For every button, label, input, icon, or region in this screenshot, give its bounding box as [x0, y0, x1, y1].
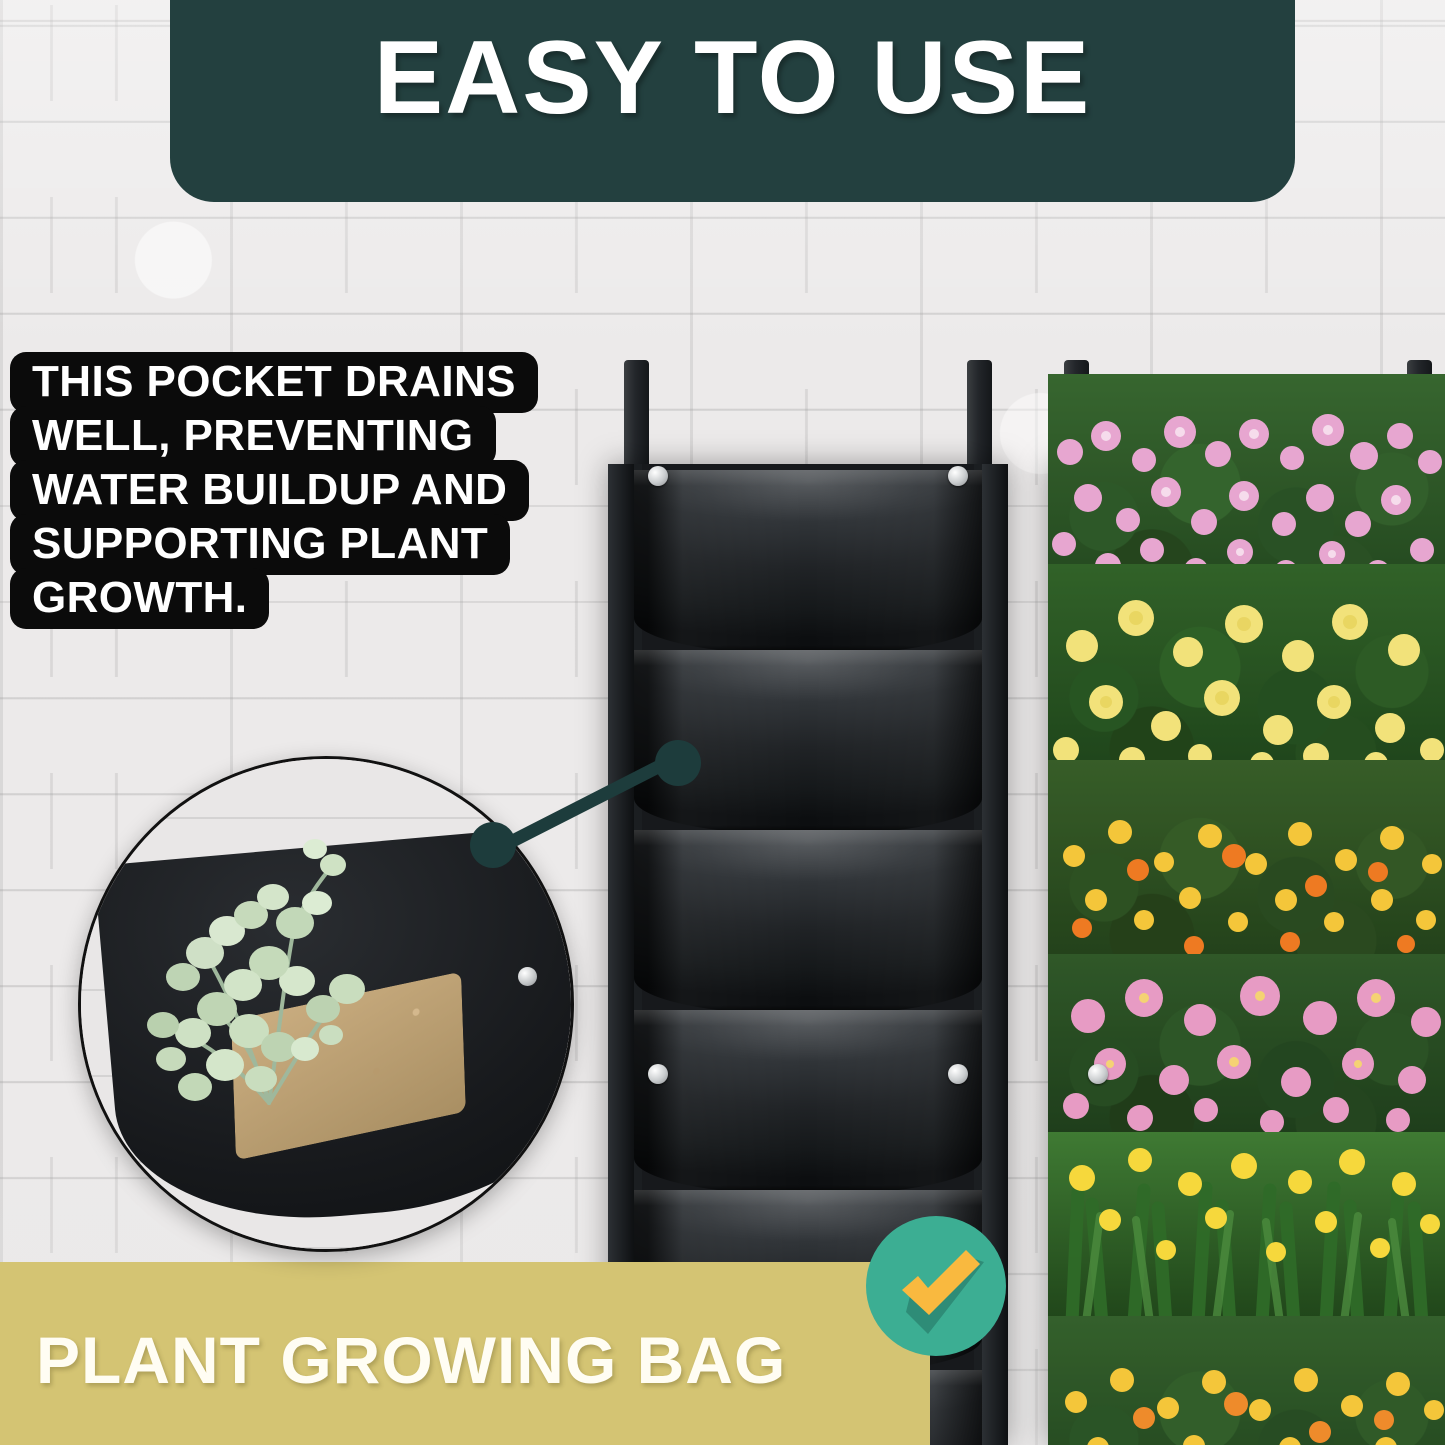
product-name: PLANT GROWING BAG: [36, 1322, 786, 1398]
closeup-grommet: [518, 967, 537, 986]
pocket-planting-pink-alstroemeria: [1048, 954, 1445, 1144]
pocket-planting-yellow-roses: [1048, 564, 1445, 779]
eucalyptus-plant: [109, 803, 439, 1133]
footer-banner: PLANT GROWING BAG: [0, 1262, 930, 1445]
marigold-blooms: [1048, 760, 1445, 965]
calendula-blooms: [1048, 1316, 1445, 1445]
callout-pointer: [470, 730, 720, 890]
daffodil-blooms-and-leaves: [1048, 1132, 1445, 1327]
bag-grommet: [948, 1064, 968, 1084]
page-title: EASY TO USE: [374, 26, 1092, 130]
product-planted-bag: [1048, 360, 1445, 1445]
pocket-planting-daffodils: [1048, 1132, 1445, 1327]
bag-grommet: [648, 466, 668, 486]
yellow-rose-blooms: [1048, 564, 1445, 779]
callout-line: SUPPORTING PLANT: [10, 514, 510, 575]
pocket-planting-marigolds: [1048, 760, 1445, 965]
header-banner: EASY TO USE: [170, 0, 1295, 202]
callout-line: THIS POCKET DRAINS: [10, 352, 538, 413]
pointer-dot-near-magnifier: [470, 822, 516, 868]
infographic-canvas: EASY TO USE THIS POCKET DRAINS WELL, PRE…: [0, 0, 1445, 1445]
pocket-planting-calendula: [1048, 1316, 1445, 1445]
bag-pocket: [634, 470, 982, 655]
callout-line: WATER BUILDUP AND: [10, 460, 529, 521]
alstroemeria-blooms: [1048, 954, 1445, 1144]
green-check-badge: [866, 1216, 1006, 1356]
bag-grommet: [648, 1064, 668, 1084]
bag-pocket: [634, 1010, 982, 1195]
pointer-dot-on-pocket: [655, 740, 701, 786]
callout-text-block: THIS POCKET DRAINS WELL, PREVENTING WATE…: [10, 352, 538, 622]
callout-line: WELL, PREVENTING: [10, 406, 496, 467]
bag-body: [1048, 464, 1445, 1445]
bag-grommet: [948, 466, 968, 486]
bag-grommet: [1088, 1064, 1108, 1084]
callout-line: GROWTH.: [10, 568, 269, 629]
pointer-line: [493, 755, 674, 856]
